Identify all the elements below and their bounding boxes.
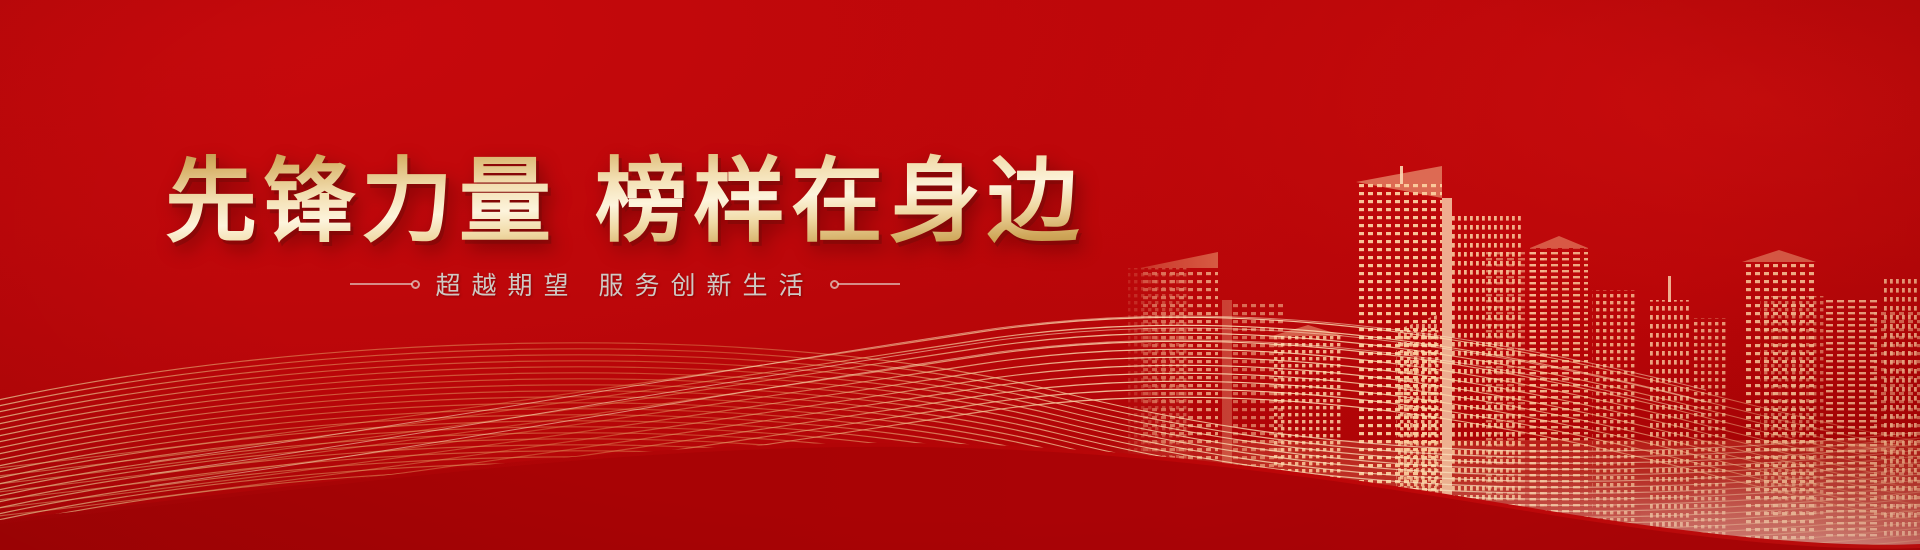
promotional-banner: 先锋力量 榜样在身边 超越期望 服务创新生活 bbox=[0, 0, 1920, 550]
background-vignette bbox=[0, 0, 1920, 550]
